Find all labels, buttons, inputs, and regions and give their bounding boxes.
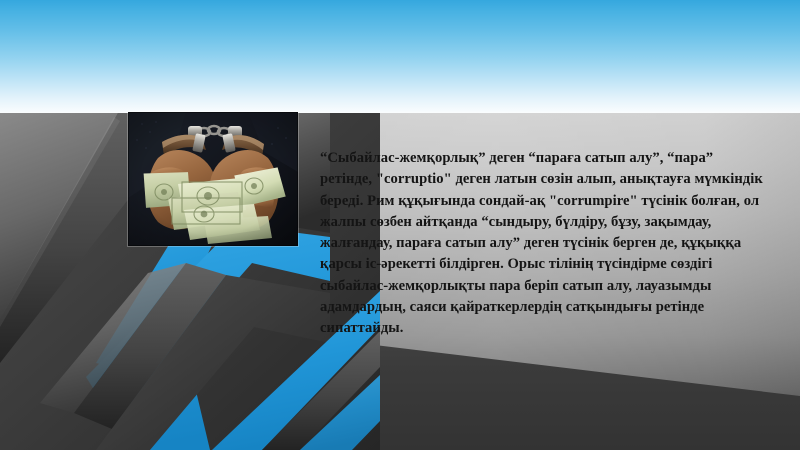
presentation-slide: “Сыбайлас-жемқорлық” деген “параға сатып… [0, 0, 800, 450]
slide-body-text: “Сыбайлас-жемқорлық” деген “параға сатып… [320, 148, 768, 340]
handcuffs-with-money-photo [128, 112, 298, 246]
body-paragraph: “Сыбайлас-жемқорлық” деген “параға сатып… [320, 148, 768, 340]
photo-graphic [128, 112, 298, 246]
sky-gradient-band [0, 0, 800, 116]
